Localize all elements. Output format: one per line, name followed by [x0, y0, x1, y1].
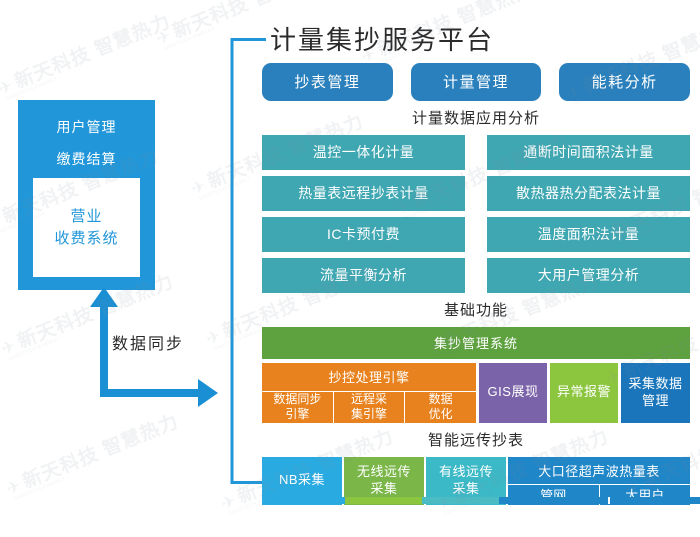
app-item-large-user-management-analysis[interactable]: 大用户管理分析	[487, 258, 690, 293]
engine-item-remote-collection[interactable]: 远程采集引擎	[334, 392, 406, 423]
app-item-temp-control-integrated-metering[interactable]: 温控一体化计量	[262, 135, 465, 170]
platform-bracket	[230, 38, 266, 484]
engine-sub-row: 数据同步引擎 远程采集引擎 数据优化	[262, 391, 476, 423]
accent-segment	[268, 497, 345, 504]
basic-function-block: 集抄管理系统 抄控处理引擎 数据同步引擎 远程采集引擎 数据优化 GIS展现	[262, 327, 690, 423]
accent-segment	[345, 497, 422, 504]
app-item-radiator-heat-allocation-metering[interactable]: 散热器热分配表法计量	[487, 176, 690, 211]
brand-logo-icon: ✈	[188, 176, 210, 200]
basic-item-abnormal-alarm[interactable]: 异常报警	[550, 363, 618, 423]
section-label-smart-remote-meter-reading: 智能远传抄表	[262, 429, 690, 450]
accent-segment	[422, 497, 499, 504]
brand-logo-icon: ✈	[153, 26, 175, 50]
platform-column: 计量集抄服务平台 抄表管理 计量管理 能耗分析 计量数据应用分析 温控一体化计量…	[262, 24, 690, 505]
reading-control-engine-title: 抄控处理引擎	[262, 363, 476, 391]
charging-system-label: 收费系统	[54, 228, 118, 250]
app-item-ic-card-prepayment[interactable]: IC卡预付费	[262, 217, 465, 252]
tab-energy-consumption-analysis[interactable]: 能耗分析	[559, 63, 690, 101]
centralized-reading-management-system-bar[interactable]: 集抄管理系统	[262, 327, 690, 359]
brand-logo-icon: ✈	[3, 476, 25, 500]
business-label: 营业	[70, 206, 102, 228]
brand-logo-icon: ✈	[0, 76, 17, 100]
app-item-temperature-area-method-metering[interactable]: 温度面积法计量	[487, 217, 690, 252]
app-item-heat-meter-remote-reading[interactable]: 热量表远程抄表计量	[262, 176, 465, 211]
large-meter-title: 大口径超声波热量表	[508, 457, 690, 484]
basic-function-row: 抄控处理引擎 数据同步引擎 远程采集引擎 数据优化 GIS展现 异常报警 采集数…	[262, 363, 690, 423]
brand-logo-icon: ✈	[0, 211, 5, 235]
billing-system-panel[interactable]: 用户管理 缴费结算 营业 收费系统	[18, 100, 155, 290]
bottom-accent-bar	[268, 497, 700, 504]
basic-item-collected-data-management[interactable]: 采集数据管理	[621, 363, 690, 423]
accent-segment	[499, 497, 608, 504]
business-charging-system-box[interactable]: 营业 收费系统	[33, 178, 140, 277]
section-label-data-application-analysis: 计量数据应用分析	[262, 107, 690, 128]
left-bracket-icon	[230, 38, 266, 484]
app-item-on-off-time-area-method-metering[interactable]: 通断时间面积法计量	[487, 135, 690, 170]
tab-meter-reading-management[interactable]: 抄表管理	[262, 63, 393, 101]
watermark-text: ✈新天科技 智慧热力SINOTECH ENERGY	[0, 7, 175, 104]
section-label-basic-function: 基础功能	[262, 299, 690, 320]
page-title: 计量集抄服务平台	[270, 24, 690, 57]
watermark-text: ✈新天科技 智慧热力SINOTECH ENERGY	[1, 407, 183, 504]
engine-item-data-optimization[interactable]: 数据优化	[405, 392, 476, 423]
data-sync-label: 数据同步	[112, 330, 184, 354]
accent-segment	[610, 497, 700, 504]
engine-item-data-sync[interactable]: 数据同步引擎	[262, 392, 334, 423]
brand-logo-icon: ✈	[0, 336, 20, 360]
tab-metering-management[interactable]: 计量管理	[411, 63, 542, 101]
app-item-flow-balance-analysis[interactable]: 流量平衡分析	[262, 258, 465, 293]
payment-settlement-label: 缴费结算	[18, 149, 155, 169]
reading-control-engine-group: 抄控处理引擎 数据同步引擎 远程采集引擎 数据优化	[262, 363, 476, 423]
platform-module-tabs: 抄表管理 计量管理 能耗分析	[262, 63, 690, 101]
basic-item-gis-display[interactable]: GIS展现	[479, 363, 547, 423]
user-management-label: 用户管理	[18, 117, 155, 137]
application-analysis-grid: 温控一体化计量 通断时间面积法计量 热量表远程抄表计量 散热器热分配表法计量 I…	[262, 135, 690, 293]
brand-logo-icon: ✈	[218, 491, 240, 515]
